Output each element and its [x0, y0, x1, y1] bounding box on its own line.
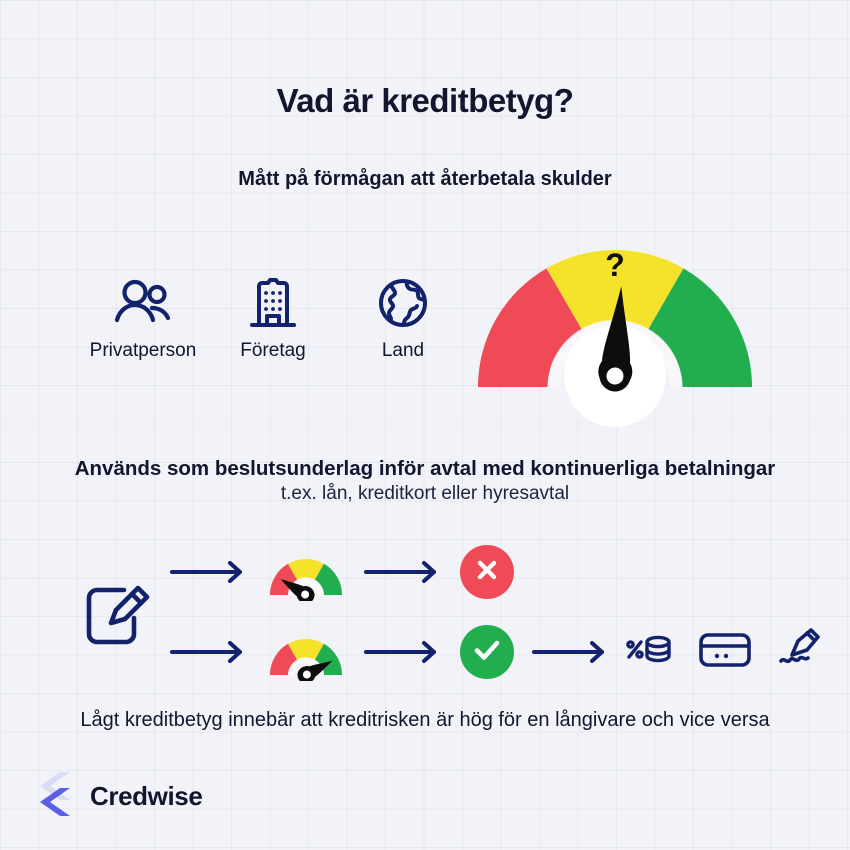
building-icon: [248, 272, 298, 334]
globe-icon: [377, 272, 429, 334]
brand-name: Credwise: [90, 781, 202, 812]
flow-row-approved: [170, 618, 850, 686]
credit-product-icons: [624, 628, 822, 677]
footer-note: Lågt kreditbetyg innebär att kreditriske…: [0, 709, 850, 732]
entity-label: Privatperson: [90, 340, 197, 362]
entity-item-privatperson: Privatperson: [78, 272, 208, 362]
brand-lockup: Credwise: [36, 770, 202, 823]
percent-coins-icon: [624, 630, 672, 675]
cross-icon: [474, 557, 500, 588]
mini-gauge-high: [266, 629, 346, 675]
usage-headline: Används som beslutsunderlag inför avtal …: [0, 457, 850, 481]
infographic-canvas: Vad är kreditbetyg? Mått på förmågan att…: [0, 0, 850, 850]
credit-card-icon: [698, 630, 752, 675]
arrow-right-icon: [170, 561, 248, 583]
credwise-logo-icon: [36, 770, 76, 823]
page-subtitle: Mått på förmågan att återbetala skulder: [0, 168, 850, 191]
document-edit-icon: [80, 580, 152, 657]
arrow-right-icon: [364, 641, 442, 663]
decision-flow: [0, 530, 850, 690]
arrow-right-icon: [364, 561, 442, 583]
entity-item-foretag: Företag: [208, 272, 338, 362]
result-badge-rejected: [460, 545, 514, 599]
entity-item-land: Land: [338, 272, 468, 362]
flow-row-rejected: [170, 538, 850, 606]
entity-list: Privatperson Företag: [78, 272, 468, 362]
gauge-needle: [468, 240, 762, 420]
people-icon: [112, 272, 174, 334]
result-badge-approved: [460, 625, 514, 679]
check-icon: [472, 638, 502, 667]
arrow-right-icon: [170, 641, 248, 663]
arrow-right-icon: [532, 641, 610, 663]
entity-label: Företag: [240, 340, 305, 362]
signature-pen-icon: [778, 628, 822, 677]
usage-examples: t.ex. lån, kreditkort eller hyresavtal: [0, 483, 850, 505]
page-title: Vad är kreditbetyg?: [0, 82, 850, 120]
entity-label: Land: [382, 340, 424, 362]
mini-gauge-low: [266, 549, 346, 595]
